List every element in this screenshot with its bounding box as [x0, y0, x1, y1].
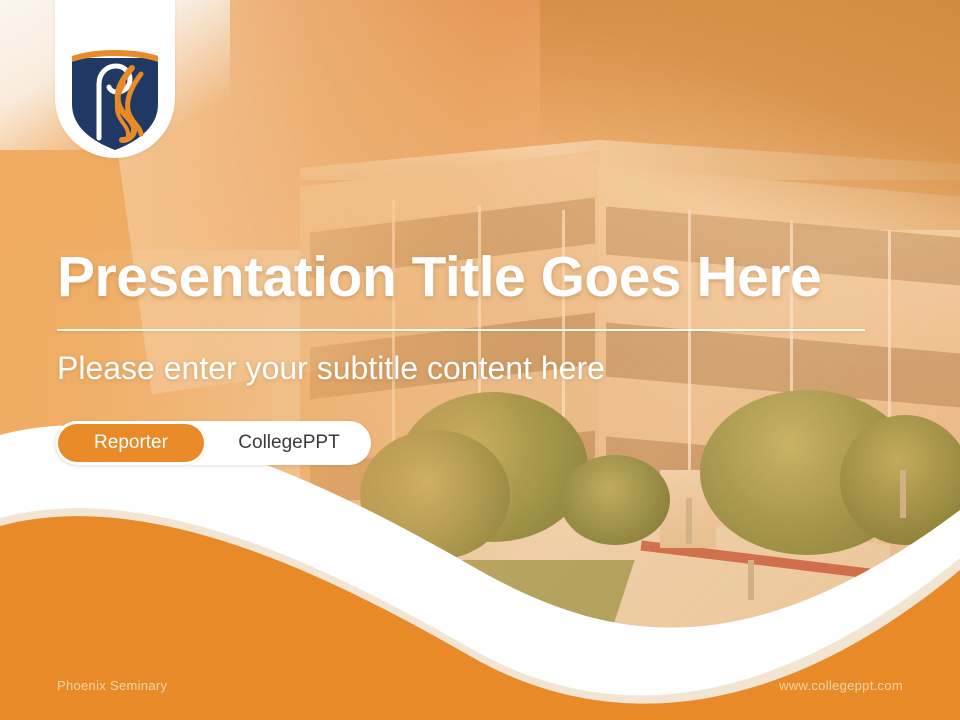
- page-subtitle: Please enter your subtitle content here: [57, 350, 605, 387]
- footer-website[interactable]: www.collegeppt.com: [779, 678, 903, 693]
- presentation-slide: Presentation Title Goes Here Please ente…: [0, 0, 960, 720]
- page-title: Presentation Title Goes Here: [57, 247, 897, 309]
- reporter-badge[interactable]: Reporter CollegePPT: [55, 421, 371, 465]
- phoenix-seminary-shield-logo: [66, 48, 164, 152]
- footer-institution: Phoenix Seminary: [57, 678, 167, 693]
- title-divider-rule: [57, 329, 865, 331]
- reporter-role-label: Reporter: [55, 421, 207, 465]
- reporter-name-value: CollegePPT: [207, 421, 371, 465]
